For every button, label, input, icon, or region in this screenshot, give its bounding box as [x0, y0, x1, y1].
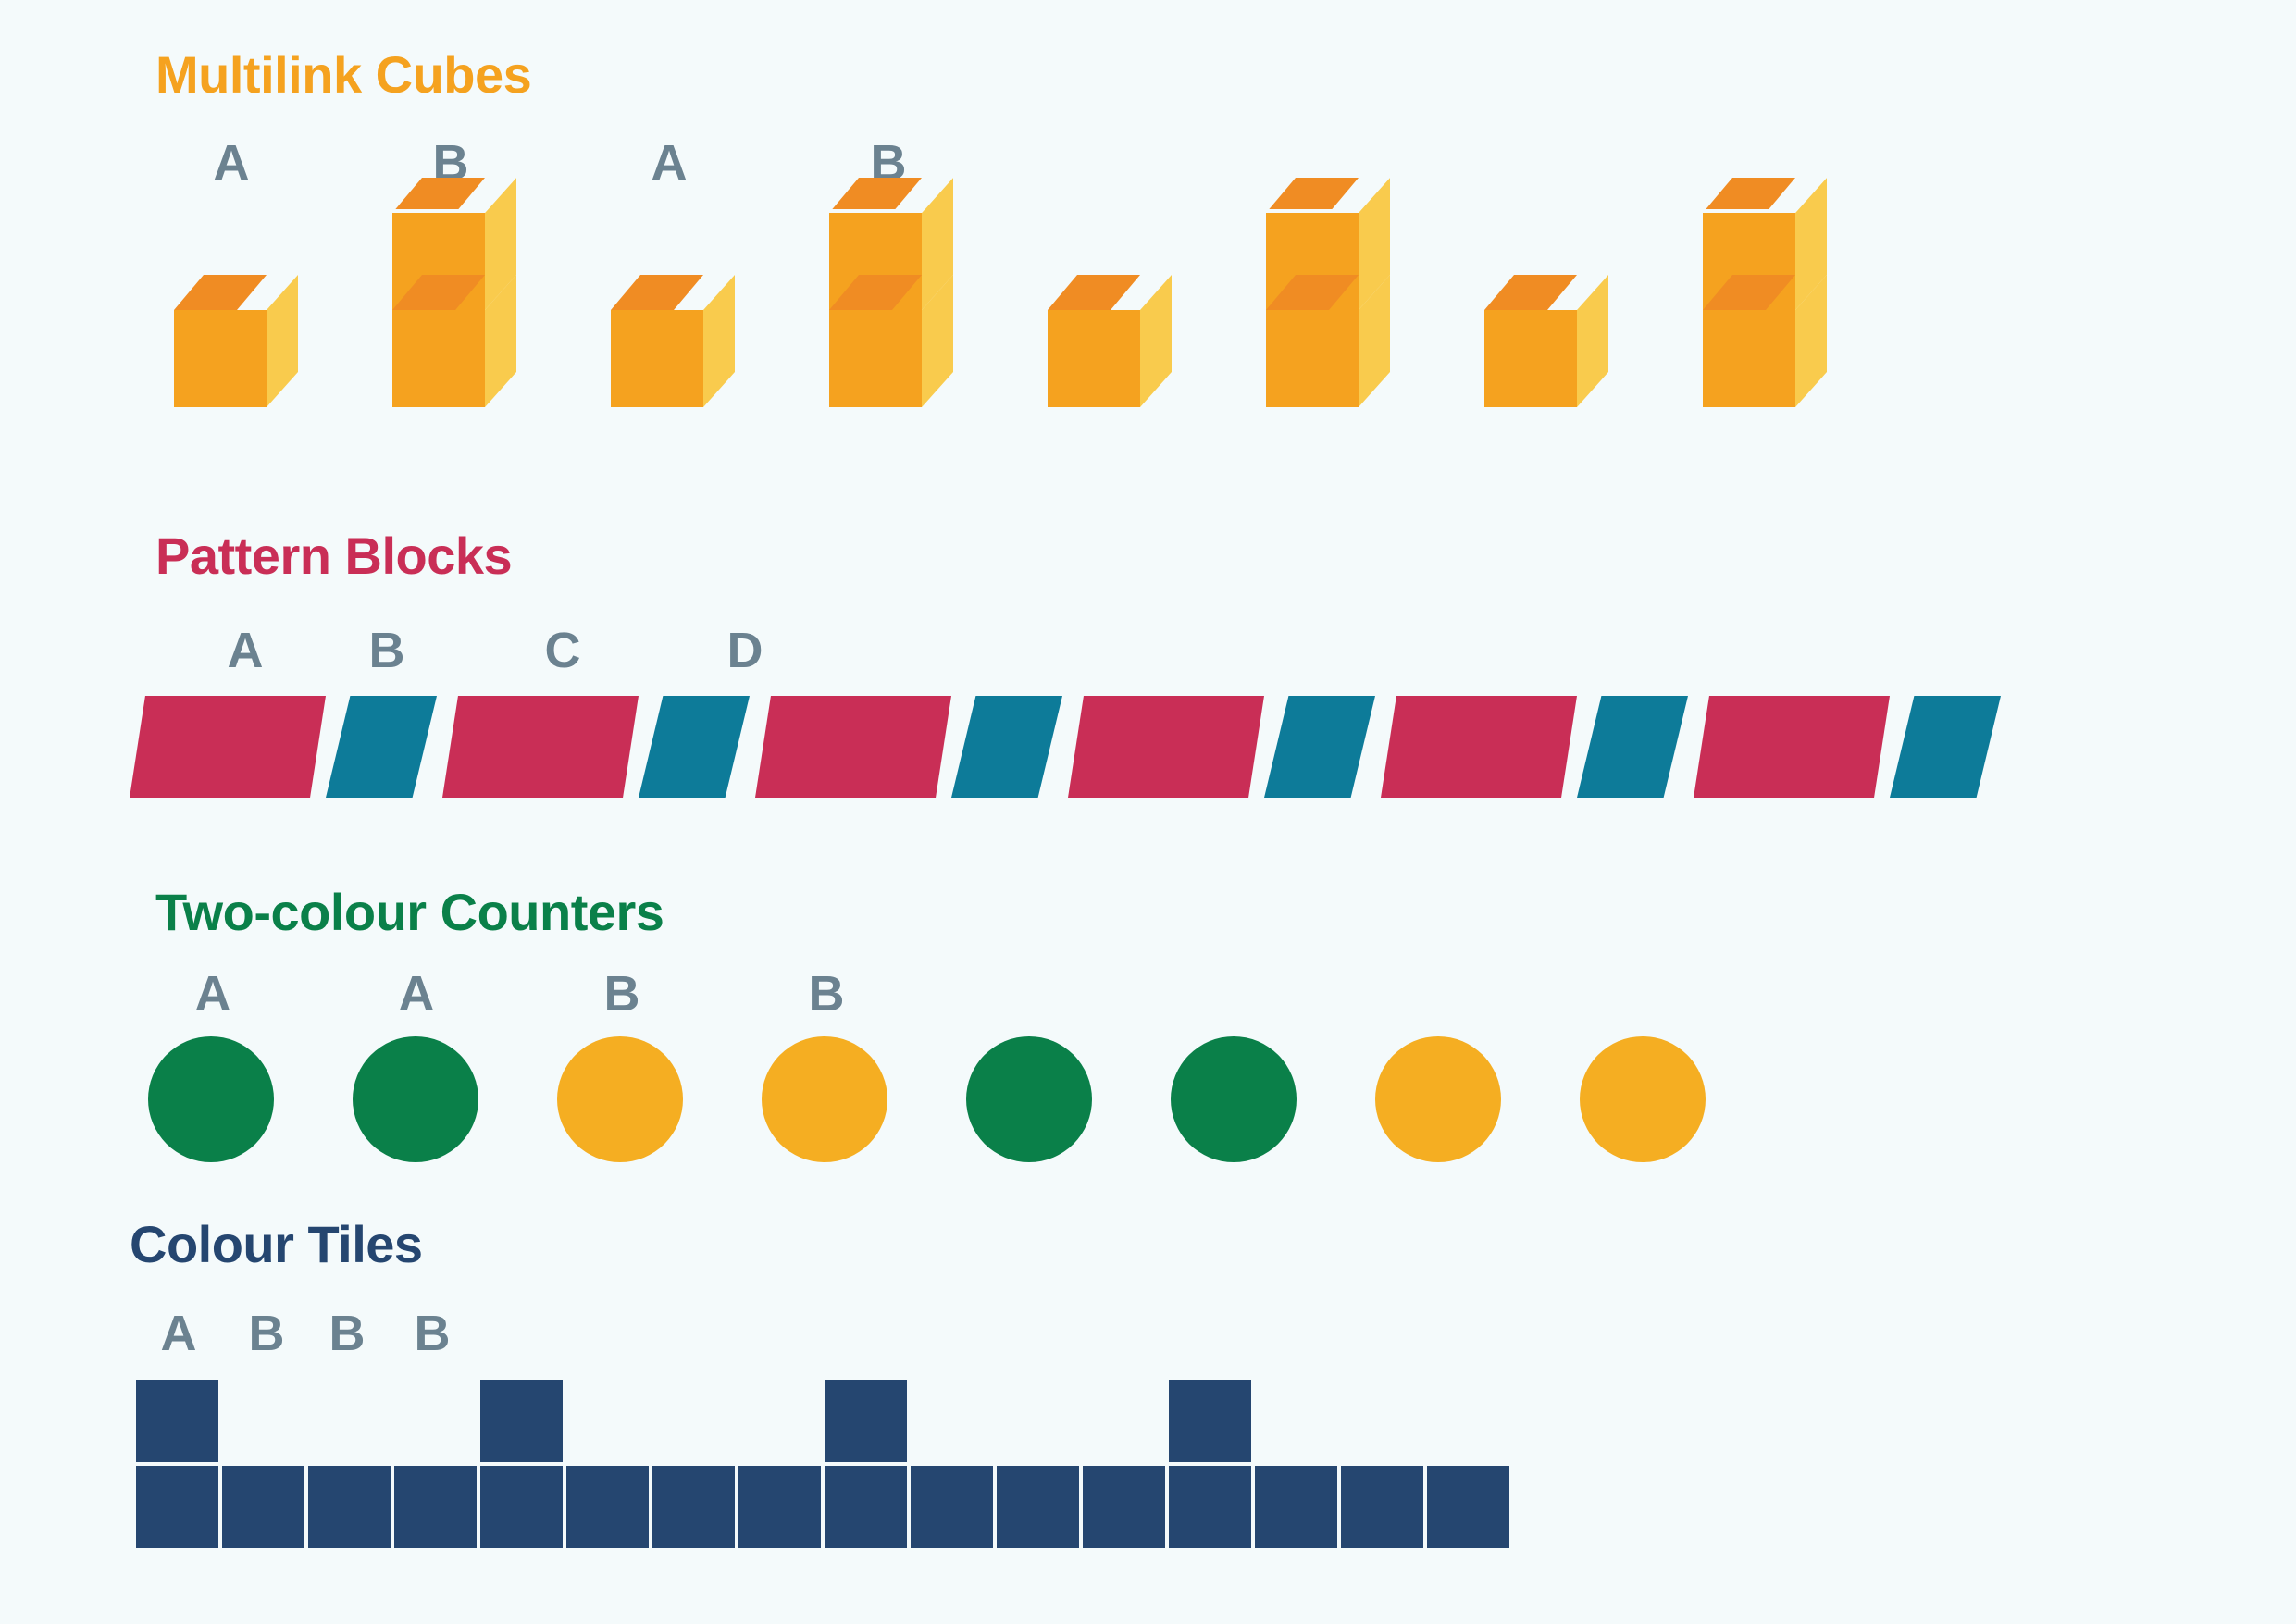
cube-top-face — [392, 178, 485, 213]
cube-side-face — [267, 275, 298, 407]
section-title-pattern-blocks: Pattern Blocks — [155, 526, 512, 586]
cube-seam — [1266, 209, 1359, 213]
pattern-block-parallelogram — [951, 696, 1062, 798]
section-multilink-cubes: Multilink Cubes A B A B — [0, 0, 2296, 481]
pattern-block-trapezoid — [1694, 696, 1890, 798]
cube-stack — [1266, 213, 1390, 444]
cube-stack — [1703, 213, 1827, 444]
pattern-block-trapezoid — [1068, 696, 1264, 798]
colour-tile-grid — [0, 1374, 2296, 1559]
multilink-cube-row — [0, 167, 2296, 444]
cube-top-face — [1484, 275, 1577, 310]
pattern-label-counters-1: A — [399, 965, 435, 1023]
section-two-colour-counters: Two-colour Counters A A B B — [0, 837, 2296, 1171]
cube-front-face — [1048, 310, 1140, 407]
pattern-label-blocks-3: D — [727, 622, 763, 679]
multilink-cube — [1703, 310, 1795, 407]
cube-front-face — [1703, 310, 1795, 407]
section-colour-tiles: Colour Tiles A B B B — [0, 1175, 2296, 1573]
colour-tile — [823, 1378, 909, 1464]
two-colour-counter — [1375, 1036, 1501, 1162]
pattern-block-trapezoid — [1381, 696, 1577, 798]
pattern-label-tiles-2: B — [329, 1305, 366, 1362]
multilink-cube — [1484, 310, 1577, 407]
pattern-label-counters-2: B — [604, 965, 640, 1023]
pattern-label-blocks-0: A — [228, 622, 264, 679]
cube-top-face — [1703, 178, 1795, 213]
pattern-block-trapezoid — [442, 696, 639, 798]
colour-tile — [1081, 1464, 1167, 1550]
two-colour-counter — [762, 1036, 887, 1162]
colour-tile — [478, 1378, 565, 1464]
pattern-label-blocks-2: C — [545, 622, 581, 679]
colour-tile — [1253, 1464, 1339, 1550]
pattern-block-parallelogram — [639, 696, 750, 798]
cube-stack — [174, 310, 298, 444]
colour-tile — [1425, 1464, 1511, 1550]
cube-side-face — [703, 275, 735, 407]
cube-stack — [611, 310, 735, 444]
multilink-cube — [392, 310, 485, 407]
colour-tile — [1167, 1378, 1253, 1464]
counter-row — [0, 1036, 2296, 1166]
cube-seam — [392, 209, 485, 213]
colour-tile — [995, 1464, 1081, 1550]
cube-top-face — [829, 178, 922, 213]
pattern-label-counters-0: A — [195, 965, 231, 1023]
multilink-cube — [611, 310, 703, 407]
cube-top-face — [174, 275, 267, 310]
cube-stack — [1048, 310, 1172, 444]
colour-tile — [134, 1378, 220, 1464]
two-colour-counter — [353, 1036, 478, 1162]
cube-stack — [392, 213, 516, 444]
pattern-label-blocks-1: B — [369, 622, 405, 679]
cube-front-face — [1266, 310, 1359, 407]
cube-front-face — [1484, 310, 1577, 407]
colour-tile — [478, 1464, 565, 1550]
multilink-cube — [1048, 310, 1140, 407]
colour-tile — [392, 1464, 478, 1550]
label-row-counters: A A B B — [0, 965, 2296, 1030]
pattern-block-trapezoid — [130, 696, 326, 798]
pattern-block-parallelogram — [1264, 696, 1375, 798]
cube-seam — [829, 209, 922, 213]
two-colour-counter — [148, 1036, 274, 1162]
pattern-label-tiles-1: B — [249, 1305, 285, 1362]
cube-front-face — [174, 310, 267, 407]
multilink-cube — [174, 310, 267, 407]
section-title-two-colour-counters: Two-colour Counters — [155, 882, 664, 942]
colour-tile — [306, 1464, 392, 1550]
pattern-block-parallelogram — [326, 696, 437, 798]
colour-tile — [220, 1464, 306, 1550]
pattern-label-counters-3: B — [809, 965, 845, 1023]
section-title-multilink-cubes: Multilink Cubes — [155, 44, 531, 105]
label-row-pattern-blocks: A B C D — [0, 622, 2296, 687]
colour-tile — [1167, 1464, 1253, 1550]
colour-tile — [651, 1464, 737, 1550]
cube-side-face — [1577, 275, 1608, 407]
cube-front-face — [829, 310, 922, 407]
section-pattern-blocks: Pattern Blocks A B C D — [0, 481, 2296, 814]
colour-tile — [823, 1464, 909, 1550]
colour-tile — [737, 1464, 823, 1550]
section-title-colour-tiles: Colour Tiles — [130, 1214, 423, 1274]
cube-seam — [1703, 209, 1795, 213]
colour-tile — [134, 1464, 220, 1550]
cube-stack — [829, 213, 953, 444]
cube-top-face — [1048, 275, 1140, 310]
pattern-block-trapezoid — [755, 696, 951, 798]
pattern-label-tiles-0: A — [161, 1305, 197, 1362]
pattern-label-tiles-3: B — [415, 1305, 451, 1362]
cube-front-face — [392, 310, 485, 407]
two-colour-counter — [1171, 1036, 1297, 1162]
two-colour-counter — [1580, 1036, 1706, 1162]
colour-tile — [909, 1464, 995, 1550]
colour-tile — [1339, 1464, 1425, 1550]
two-colour-counter — [966, 1036, 1092, 1162]
colour-tile — [565, 1464, 651, 1550]
multilink-cube — [1266, 310, 1359, 407]
cube-front-face — [611, 310, 703, 407]
pattern-block-row — [0, 696, 2296, 807]
pattern-block-parallelogram — [1577, 696, 1688, 798]
multilink-cube — [829, 310, 922, 407]
label-row-tiles: A B B B — [0, 1305, 2296, 1370]
cube-top-face — [611, 275, 703, 310]
pattern-block-parallelogram — [1890, 696, 2001, 798]
cube-side-face — [1140, 275, 1172, 407]
cube-top-face — [1266, 178, 1359, 213]
cube-stack — [1484, 310, 1608, 444]
two-colour-counter — [557, 1036, 683, 1162]
